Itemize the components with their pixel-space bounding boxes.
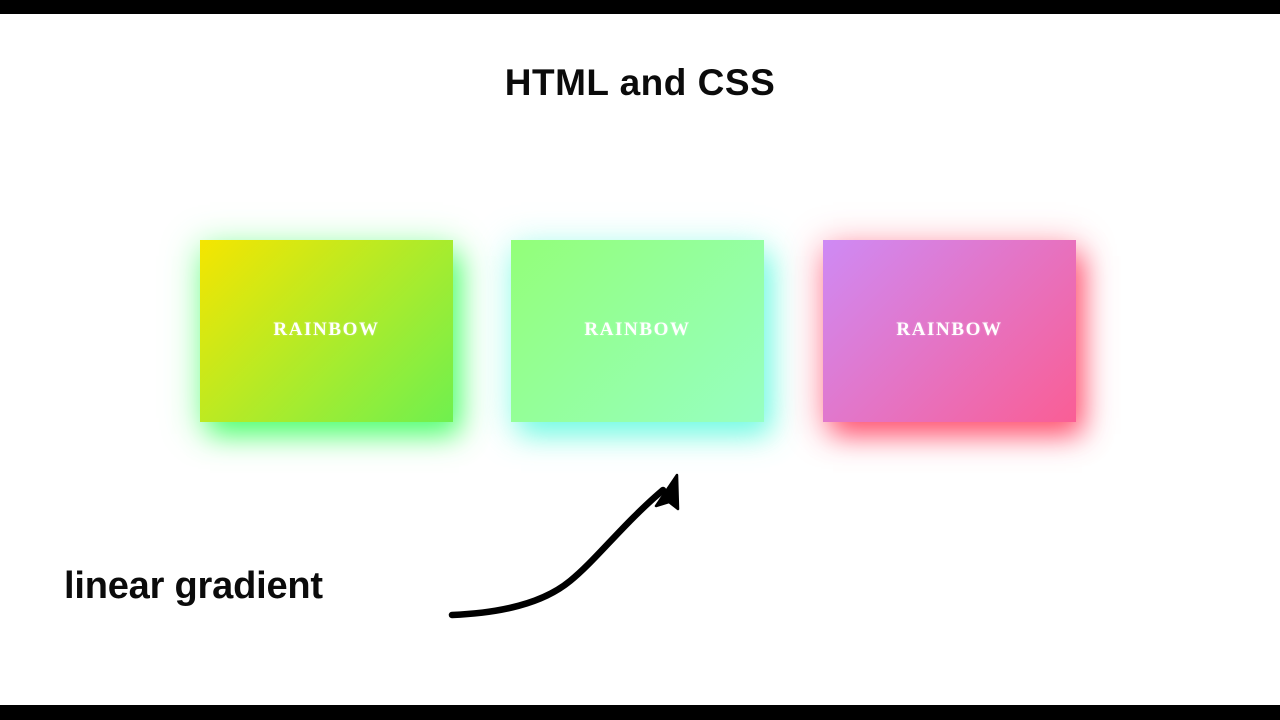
letterbox-bar-top bbox=[0, 0, 1280, 14]
annotation-label: linear gradient bbox=[64, 565, 323, 608]
gradient-card-1: RAINBOW bbox=[200, 240, 453, 422]
slide-canvas: HTML and CSS RAINBOW RAINBOW RAINBOW lin… bbox=[0, 14, 1280, 705]
gradient-card-3: RAINBOW bbox=[823, 240, 1076, 422]
gradient-card-1-label: RAINBOW bbox=[273, 319, 379, 341]
gradient-card-3-label: RAINBOW bbox=[896, 319, 1002, 341]
video-frame: HTML and CSS RAINBOW RAINBOW RAINBOW lin… bbox=[0, 0, 1280, 720]
gradient-card-2-label: RAINBOW bbox=[584, 319, 690, 341]
curved-arrow-icon bbox=[430, 454, 700, 634]
letterbox-bar-bottom bbox=[0, 705, 1280, 720]
gradient-card-2: RAINBOW bbox=[511, 240, 764, 422]
